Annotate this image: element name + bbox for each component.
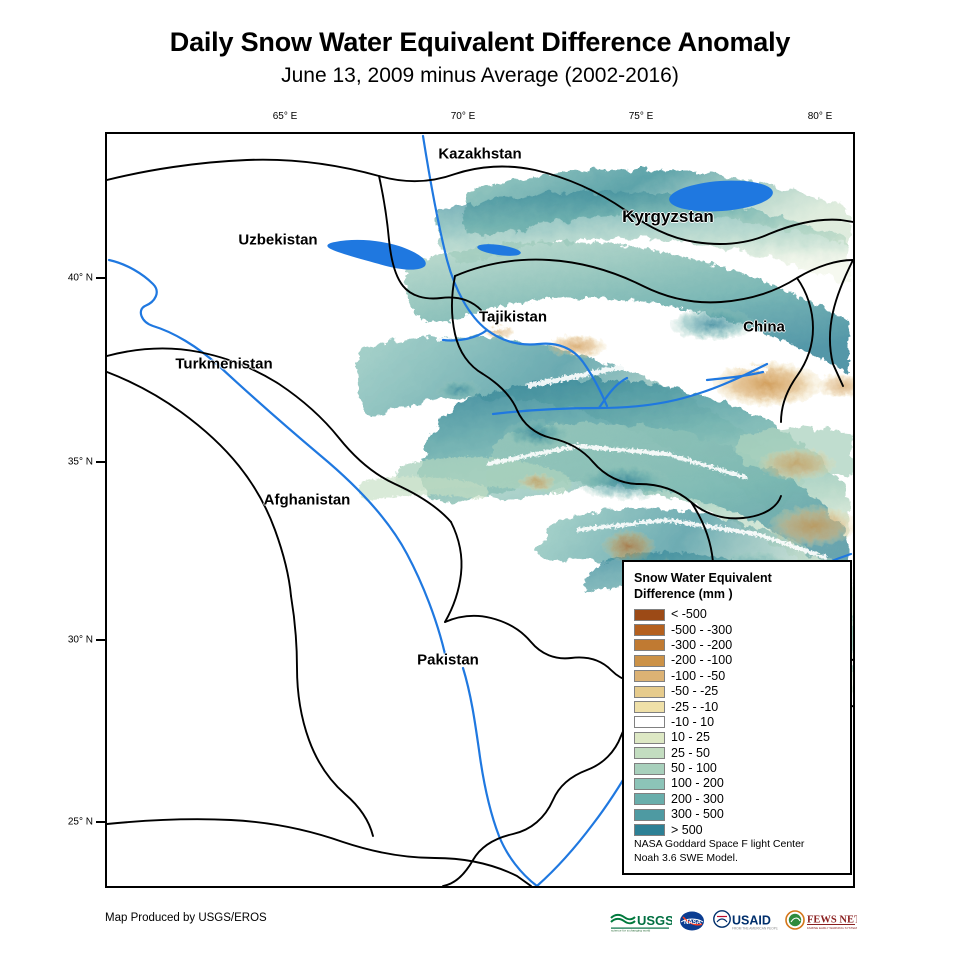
- legend-swatch: [634, 778, 665, 790]
- legend-source-line1: NASA Goddard Space F light Center: [634, 837, 804, 851]
- legend-label: > 500: [671, 824, 703, 837]
- lon-tick-label: 75° E: [629, 111, 654, 122]
- legend-label: 300 - 500: [671, 808, 724, 821]
- legend-row: 50 - 100: [634, 761, 840, 776]
- legend-title-line1: Snow Water Equivalent: [634, 570, 840, 586]
- svg-text:science for a changing world: science for a changing world: [611, 929, 650, 932]
- legend-row: < -500: [634, 607, 840, 622]
- legend-label: -10 - 10: [671, 716, 714, 729]
- legend-swatch: [634, 670, 665, 682]
- lat-tick-label: 30° N: [63, 635, 93, 646]
- fewsnet-logo: FEWS NET FAMINE EARLY WARNING SYSTEMS NE…: [785, 910, 857, 932]
- legend-label: -100 - -50: [671, 670, 725, 683]
- legend-row: 25 - 50: [634, 746, 840, 761]
- legend-swatch: [634, 655, 665, 667]
- svg-text:NASA: NASA: [684, 920, 702, 926]
- legend-class-list: < -500-500 - -300-300 - -200-200 - -100-…: [634, 607, 840, 838]
- title-block: Daily Snow Water Equivalent Difference A…: [0, 26, 960, 90]
- country-label-pakistan: Pakistan: [417, 652, 479, 669]
- lat-tick: [96, 639, 105, 641]
- legend-row: 10 - 25: [634, 730, 840, 745]
- country-label-kazakhstan: Kazakhstan: [438, 146, 521, 163]
- legend-swatch: [634, 639, 665, 651]
- lat-tick: [96, 461, 105, 463]
- legend-title: Snow Water Equivalent Difference (mm ): [634, 570, 840, 602]
- legend-swatch: [634, 763, 665, 775]
- country-label-china: China: [743, 319, 785, 336]
- legend-swatch: [634, 732, 665, 744]
- legend-row: -300 - -200: [634, 638, 840, 653]
- country-label-afghanistan: Afghanistan: [264, 492, 351, 509]
- legend-swatch: [634, 686, 665, 698]
- legend-title-line2: Difference (mm ): [634, 586, 840, 602]
- page-subtitle: June 13, 2009 minus Average (2002-2016): [0, 62, 960, 90]
- legend-label: < -500: [671, 608, 707, 621]
- nasa-logo: NASA: [679, 910, 705, 932]
- legend-label: -200 - -100: [671, 654, 732, 667]
- legend-row: -100 - -50: [634, 669, 840, 684]
- map-credit: Map Produced by USGS/EROS: [105, 912, 267, 924]
- legend-swatch: [634, 824, 665, 836]
- legend-row: 300 - 500: [634, 807, 840, 822]
- legend-swatch: [634, 609, 665, 621]
- legend-row: 200 - 300: [634, 792, 840, 807]
- legend-label: -25 - -10: [671, 701, 718, 714]
- lon-tick-label: 65° E: [273, 111, 298, 122]
- svg-text:USGS: USGS: [637, 913, 672, 928]
- lat-tick-label: 40° N: [63, 273, 93, 284]
- legend-source: NASA Goddard Space F light Center Noah 3…: [634, 837, 804, 865]
- legend-swatch: [634, 701, 665, 713]
- legend-row: -500 - -300: [634, 622, 840, 637]
- svg-text:USAID: USAID: [732, 914, 771, 928]
- legend-label: 50 - 100: [671, 762, 717, 775]
- usaid-logo: USAID FROM THE AMERICAN PEOPLE: [712, 910, 778, 932]
- lat-tick: [96, 277, 105, 279]
- svg-text:FROM THE AMERICAN PEOPLE: FROM THE AMERICAN PEOPLE: [732, 927, 778, 931]
- legend-label: -500 - -300: [671, 624, 732, 637]
- lat-tick-label: 35° N: [63, 457, 93, 468]
- country-label-turkmenistan: Turkmenistan: [175, 356, 272, 373]
- legend-row: -10 - 10: [634, 715, 840, 730]
- svg-text:FEWS NET: FEWS NET: [807, 915, 857, 926]
- legend-label: 100 - 200: [671, 777, 724, 790]
- legend-label: -300 - -200: [671, 639, 732, 652]
- legend-label: 200 - 300: [671, 793, 724, 806]
- map-legend: Snow Water Equivalent Difference (mm ) <…: [622, 560, 852, 875]
- legend-row: -200 - -100: [634, 653, 840, 668]
- legend-source-line2: Noah 3.6 SWE Model.: [634, 851, 804, 865]
- country-label-tajikistan: Tajikistan: [479, 309, 547, 326]
- legend-swatch: [634, 716, 665, 728]
- logo-strip: USGS science for a changing world NASA U…: [610, 908, 857, 934]
- legend-row: -25 - -10: [634, 699, 840, 714]
- legend-label: -50 - -25: [671, 685, 718, 698]
- svg-text:FAMINE EARLY WARNING SYSTEMS N: FAMINE EARLY WARNING SYSTEMS NETWORK: [807, 926, 857, 930]
- lon-tick-label: 80° E: [808, 111, 833, 122]
- legend-swatch: [634, 793, 665, 805]
- legend-row: 100 - 200: [634, 776, 840, 791]
- legend-swatch: [634, 624, 665, 636]
- usgs-logo: USGS science for a changing world: [610, 910, 672, 932]
- country-label-kyrgyzstan: Kyrgyzstan: [622, 207, 714, 227]
- country-label-uzbekistan: Uzbekistan: [238, 232, 317, 249]
- lat-tick-label: 25° N: [63, 817, 93, 828]
- legend-row: -50 - -25: [634, 684, 840, 699]
- lon-tick-label: 70° E: [451, 111, 476, 122]
- legend-swatch: [634, 809, 665, 821]
- lat-tick: [96, 821, 105, 823]
- legend-label: 25 - 50: [671, 747, 710, 760]
- legend-label: 10 - 25: [671, 731, 710, 744]
- legend-row: > 500: [634, 822, 840, 837]
- legend-swatch: [634, 747, 665, 759]
- page-title: Daily Snow Water Equivalent Difference A…: [0, 26, 960, 58]
